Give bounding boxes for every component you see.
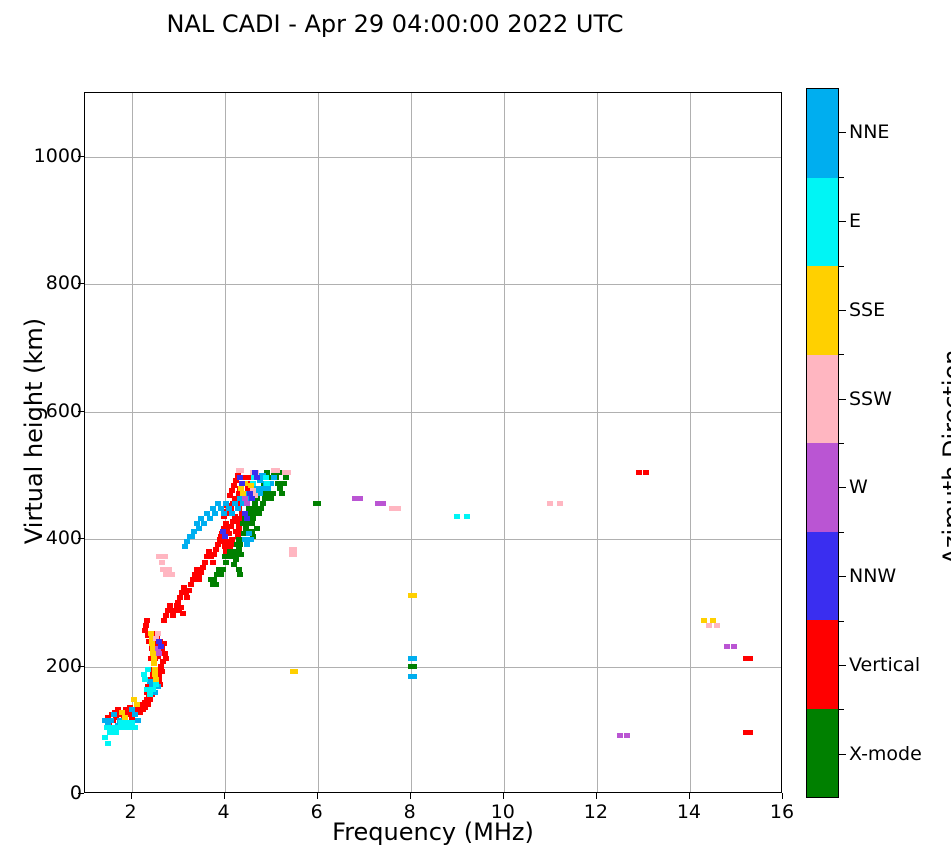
data-point	[747, 730, 753, 735]
x-axis-label: Frequency (MHz)	[84, 818, 782, 846]
data-point	[411, 664, 417, 669]
data-point	[747, 656, 753, 661]
data-point	[283, 475, 289, 480]
data-point	[268, 496, 274, 501]
colorbar-segment-nne[interactable]	[807, 89, 838, 178]
data-point	[271, 475, 277, 480]
data-point	[210, 560, 216, 565]
data-point	[250, 516, 256, 521]
colorbar-segment-w[interactable]	[807, 443, 838, 532]
data-point	[184, 595, 190, 600]
data-point	[198, 570, 204, 575]
data-point	[380, 501, 386, 506]
colorbar[interactable]	[806, 88, 839, 798]
data-point	[201, 521, 207, 526]
data-point	[281, 481, 287, 486]
x-tick-mark	[224, 793, 225, 799]
data-point	[248, 537, 254, 542]
data-point	[170, 613, 176, 618]
data-point	[270, 491, 276, 496]
plot-area[interactable]	[84, 92, 782, 793]
data-point	[158, 644, 164, 649]
data-point	[161, 618, 167, 623]
data-point	[249, 496, 255, 501]
data-point	[207, 516, 213, 521]
colorbar-boundary-tick	[839, 354, 844, 355]
data-point	[454, 514, 460, 519]
data-point	[237, 572, 243, 577]
data-point	[177, 595, 183, 600]
data-point	[169, 572, 175, 577]
data-point	[731, 644, 737, 649]
data-point	[153, 682, 159, 687]
data-point	[211, 552, 217, 557]
data-point	[643, 470, 649, 475]
colorbar-label-vertical: Vertical	[849, 654, 920, 676]
data-point	[186, 588, 192, 593]
x-tick-mark	[317, 793, 318, 799]
y-tick-label: 800	[46, 272, 82, 294]
y-tick-label: 400	[46, 527, 82, 549]
data-point	[239, 481, 245, 486]
data-point	[233, 557, 239, 562]
data-point	[557, 501, 563, 506]
colorbar-segment-sse[interactable]	[807, 266, 838, 355]
colorbar-segment-ssw[interactable]	[807, 355, 838, 444]
gridline-vertical	[597, 93, 598, 792]
data-point	[357, 496, 363, 501]
y-tick-label: 200	[46, 655, 82, 677]
data-point	[142, 677, 148, 682]
data-point	[258, 506, 264, 511]
x-tick-mark	[131, 793, 132, 799]
colorbar-tick-mark	[839, 665, 846, 666]
data-point	[144, 618, 150, 623]
data-point	[196, 577, 202, 582]
data-point	[182, 544, 188, 549]
gridline-vertical	[318, 93, 319, 792]
data-point	[155, 631, 161, 636]
data-point	[145, 702, 151, 707]
data-point	[411, 674, 417, 679]
colorbar-tick-mark	[839, 132, 846, 133]
data-point	[159, 669, 165, 674]
data-point	[285, 470, 291, 475]
data-point	[617, 733, 623, 738]
ionogram-figure: NAL CADI - Apr 29 04:00:00 2022 UTC 2468…	[0, 0, 951, 856]
data-point	[256, 511, 262, 516]
colorbar-tick-mark	[839, 487, 846, 488]
colorbar-boundary-tick	[839, 443, 844, 444]
data-point	[156, 651, 162, 656]
colorbar-tick-mark	[839, 399, 846, 400]
data-point	[153, 677, 159, 682]
colorbar-label-nnw: NNW	[849, 565, 896, 587]
colorbar-title: Azimuth Direction	[938, 292, 951, 622]
data-point	[235, 506, 241, 511]
data-point	[242, 496, 248, 501]
colorbar-segment-e[interactable]	[807, 178, 838, 267]
data-point	[213, 582, 219, 587]
gridline-vertical	[504, 93, 505, 792]
data-point	[411, 593, 417, 598]
data-point	[187, 534, 193, 539]
colorbar-boundary-tick	[839, 532, 844, 533]
data-point	[134, 702, 140, 707]
y-tick-label: 0	[70, 782, 82, 804]
data-point	[315, 501, 321, 506]
data-point	[105, 741, 111, 746]
y-axis-label: Virtual height (km)	[20, 266, 48, 596]
data-point	[395, 506, 401, 511]
data-point	[221, 511, 227, 516]
colorbar-label-x-mode: X-mode	[849, 743, 922, 765]
colorbar-tick-mark	[839, 576, 846, 577]
page-title: NAL CADI - Apr 29 04:00:00 2022 UTC	[0, 10, 790, 38]
data-point	[291, 552, 297, 557]
data-point	[262, 496, 268, 501]
data-point	[145, 667, 151, 672]
data-point	[143, 623, 149, 628]
data-point	[714, 623, 720, 628]
data-point	[254, 526, 260, 531]
data-point	[202, 560, 208, 565]
gridline-vertical	[690, 93, 691, 792]
colorbar-tick-mark	[839, 221, 846, 222]
data-point	[240, 521, 246, 526]
colorbar-label-e: E	[849, 210, 861, 232]
gridline-horizontal	[85, 284, 781, 285]
data-point	[244, 501, 250, 506]
colorbar-segment-x-mode[interactable]	[807, 709, 838, 798]
data-point	[624, 733, 630, 738]
x-tick-mark	[503, 793, 504, 799]
data-point	[238, 552, 244, 557]
data-point	[238, 468, 244, 473]
data-point	[411, 656, 417, 661]
data-point	[132, 725, 138, 730]
data-point	[188, 582, 194, 587]
data-point	[279, 491, 285, 496]
colorbar-label-nne: NNE	[849, 121, 889, 143]
colorbar-tick-mark	[839, 754, 846, 755]
data-point	[135, 718, 141, 723]
colorbar-boundary-tick	[839, 621, 844, 622]
data-point	[223, 560, 229, 565]
data-point	[464, 514, 470, 519]
data-point	[147, 697, 153, 702]
data-point	[724, 644, 730, 649]
colorbar-tick-mark	[839, 310, 846, 311]
colorbar-label-sse: SSE	[849, 299, 885, 321]
data-point	[218, 572, 224, 577]
data-point	[227, 493, 233, 498]
data-point	[547, 501, 553, 506]
gridline-vertical	[225, 93, 226, 792]
data-point	[147, 692, 153, 697]
colorbar-segment-vertical[interactable]	[807, 620, 838, 709]
colorbar-boundary-tick	[839, 709, 844, 710]
x-tick-mark	[410, 793, 411, 799]
gridline-horizontal	[85, 157, 781, 158]
data-point	[292, 669, 298, 674]
data-point	[229, 511, 235, 516]
data-point	[159, 560, 165, 565]
gridline-vertical	[132, 93, 133, 792]
gridline-horizontal	[85, 412, 781, 413]
colorbar-label-ssw: SSW	[849, 388, 892, 410]
data-point	[244, 516, 250, 521]
data-point	[264, 481, 270, 486]
data-point	[274, 468, 280, 473]
data-point	[244, 542, 250, 547]
y-tick-label: 600	[46, 400, 82, 422]
data-point	[162, 554, 168, 559]
data-point	[220, 567, 226, 572]
data-point	[636, 470, 642, 475]
data-point	[706, 623, 712, 628]
colorbar-boundary-tick	[839, 266, 844, 267]
colorbar-segment-nnw[interactable]	[807, 532, 838, 621]
data-point	[122, 715, 128, 720]
x-tick-mark	[596, 793, 597, 799]
gridline-vertical	[411, 93, 412, 792]
data-point	[212, 511, 218, 516]
data-point	[102, 718, 108, 723]
data-point	[200, 565, 206, 570]
colorbar-boundary-tick	[839, 177, 844, 178]
gridline-horizontal	[85, 667, 781, 668]
data-point	[213, 547, 219, 552]
data-point	[260, 501, 266, 506]
data-point	[265, 486, 271, 491]
data-point	[190, 577, 196, 582]
x-tick-mark	[782, 793, 783, 799]
data-point	[220, 539, 226, 544]
data-point	[113, 730, 119, 735]
y-tick-label: 1000	[34, 145, 82, 167]
data-point	[254, 475, 260, 480]
colorbar-label-w: W	[849, 476, 868, 498]
data-point	[222, 534, 228, 539]
x-tick-mark	[689, 793, 690, 799]
data-point	[150, 687, 156, 692]
data-point	[163, 656, 169, 661]
